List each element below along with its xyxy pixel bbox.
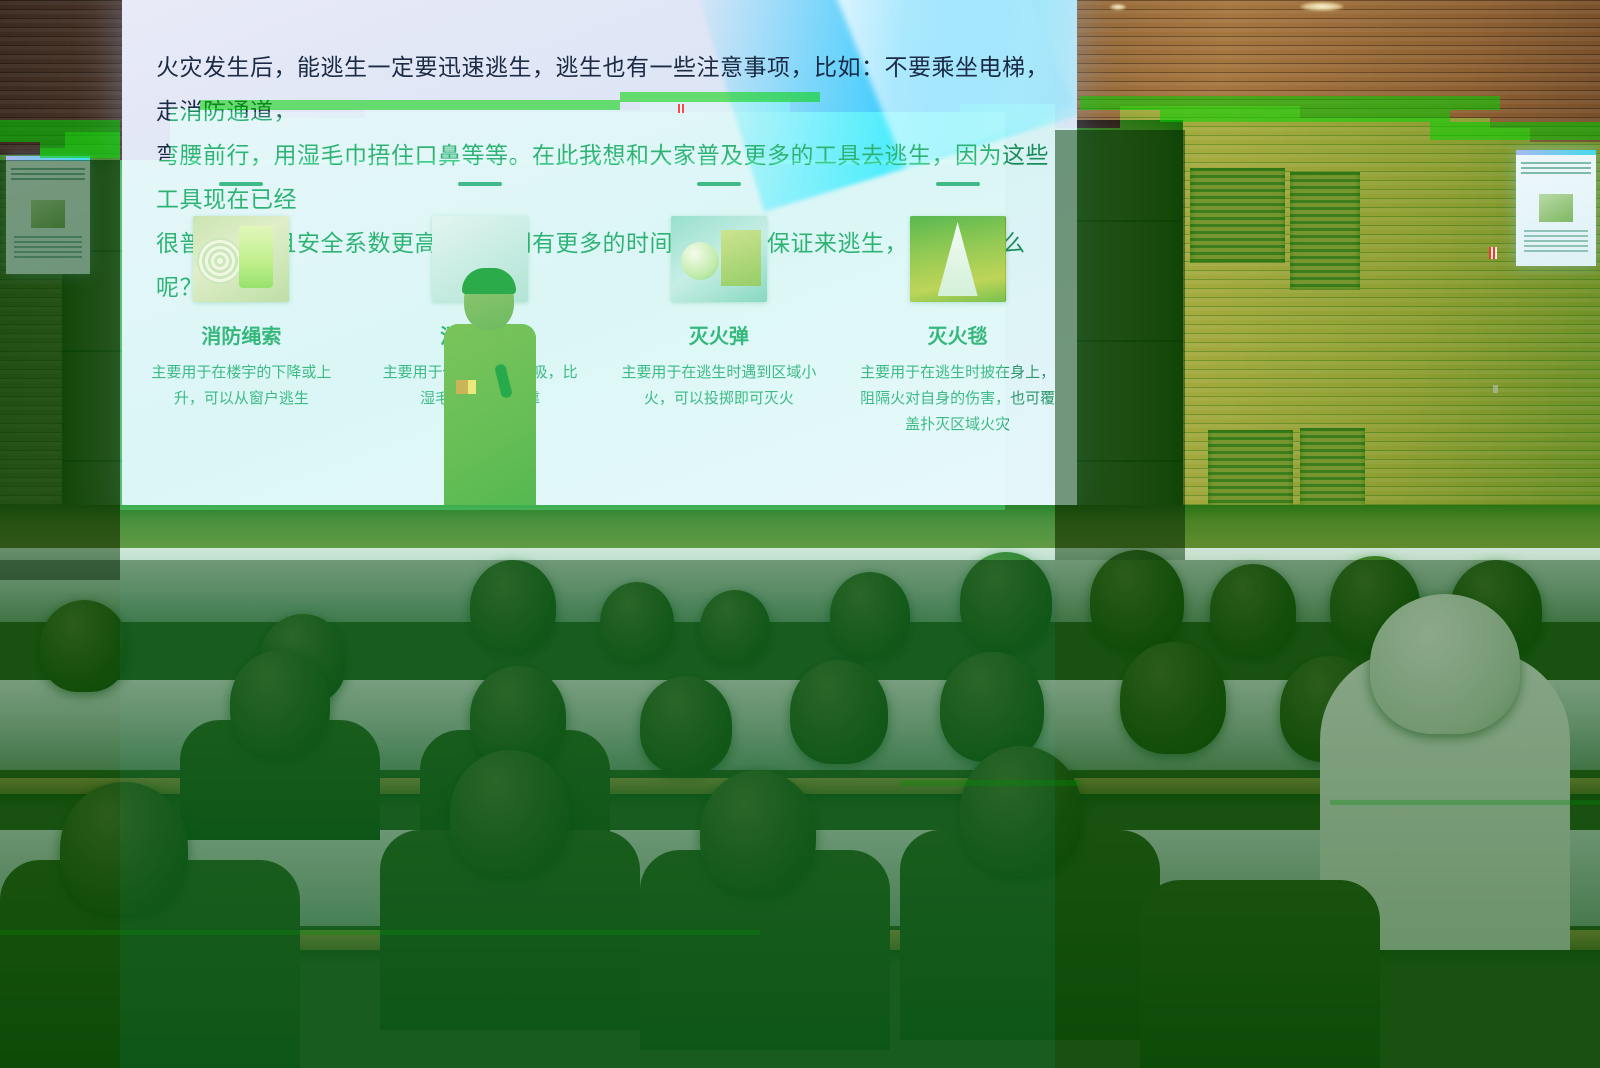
audience-torso bbox=[1140, 880, 1380, 1068]
card-rule bbox=[219, 182, 263, 186]
wall-vent-grille bbox=[1190, 168, 1285, 263]
card-title: 灭火毯 bbox=[860, 320, 1055, 349]
aux-text-lines bbox=[1521, 162, 1591, 176]
card-title: 灭火弹 bbox=[621, 320, 816, 349]
aux-text-lines bbox=[11, 168, 85, 182]
audience-head bbox=[830, 572, 910, 658]
slide-card-row: 消防绳索 主要用于在楼宇的下降或上升，可以从窗户逃生 消防面具 主要用于保护头部… bbox=[122, 182, 1077, 437]
uniform-flag-patch bbox=[456, 380, 476, 394]
ceiling-downlight bbox=[1300, 2, 1344, 11]
card-description: 主要用于在逃生时遇到区域小火，可以投掷即可灭火 bbox=[621, 359, 816, 411]
audience-head bbox=[40, 600, 128, 692]
card-description: 主要用于在楼宇的下降或上升，可以从窗户逃生 bbox=[144, 359, 339, 411]
wall-vent-grille bbox=[1290, 172, 1360, 290]
card-description: 主要用于在逃生时披在身上，阻隔火对自身的伤害，也可覆盖扑灭区域火灾 bbox=[860, 359, 1055, 437]
audience-head bbox=[600, 582, 674, 662]
slide-card-rope: 消防绳索 主要用于在楼宇的下降或上升，可以从窗户逃生 bbox=[144, 182, 339, 411]
screenshot-canvas: 火灾发生后，能逃生一定要迅速逃生，逃生也有一些注意事项，比如：不要乘坐电梯，走消… bbox=[0, 0, 1600, 1068]
fire-blanket-icon bbox=[910, 216, 1006, 302]
audience-head bbox=[450, 750, 570, 876]
auxiliary-display-left bbox=[6, 156, 90, 274]
aux-accent-band bbox=[6, 156, 90, 161]
audience-head bbox=[960, 746, 1082, 876]
audience-head bbox=[230, 650, 330, 756]
audience-head bbox=[470, 560, 556, 652]
audience-hooded-head bbox=[1370, 594, 1520, 734]
fire-rope-icon bbox=[193, 216, 289, 302]
audience-head bbox=[640, 676, 732, 774]
right-pillar bbox=[1063, 120, 1183, 560]
aux-thumbnail bbox=[1539, 194, 1573, 222]
audience-head bbox=[60, 782, 188, 914]
aux-thumbnail bbox=[31, 200, 65, 228]
card-title: 消防绳索 bbox=[144, 320, 339, 349]
presenter-figure bbox=[440, 272, 540, 544]
aux-accent-band bbox=[1516, 150, 1596, 155]
audience-head bbox=[1210, 564, 1296, 656]
card-rule bbox=[697, 182, 741, 186]
aux-caption-lines bbox=[14, 236, 82, 258]
slide-card-blanket: 灭火毯 主要用于在逃生时披在身上，阻隔火对自身的伤害，也可覆盖扑灭区域火灾 bbox=[860, 182, 1055, 437]
audience-head bbox=[1090, 550, 1184, 650]
fire-ball-icon bbox=[671, 216, 767, 302]
audience-head bbox=[1120, 642, 1226, 754]
ceiling-downlight bbox=[1110, 4, 1126, 10]
audience-head bbox=[790, 660, 888, 764]
aux-caption-lines bbox=[1524, 230, 1588, 252]
audience-head bbox=[960, 552, 1052, 650]
slide-card-ball: 灭火弹 主要用于在逃生时遇到区域小火，可以投掷即可灭火 bbox=[621, 182, 816, 411]
projection-screen: 火灾发生后，能逃生一定要迅速逃生，逃生也有一些注意事项，比如：不要乘坐电梯，走消… bbox=[122, 0, 1077, 519]
audience-head bbox=[700, 590, 770, 664]
presenter-hair bbox=[462, 268, 516, 294]
audience-head bbox=[700, 770, 816, 894]
audience-area bbox=[0, 530, 1600, 1068]
card-rule bbox=[458, 182, 502, 186]
card-rule bbox=[936, 182, 980, 186]
auxiliary-display-right bbox=[1516, 150, 1596, 266]
slide-paragraph-line-1: 火灾发生后，能逃生一定要迅速逃生，逃生也有一些注意事项，比如：不要乘坐电梯，走消… bbox=[156, 46, 1056, 134]
